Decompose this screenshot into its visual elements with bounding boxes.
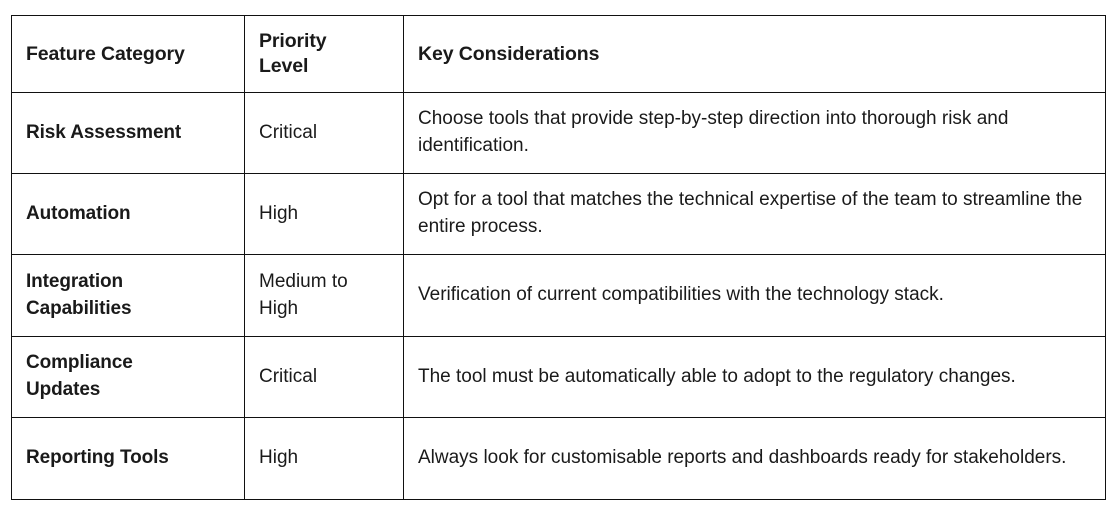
cell-key-considerations: Opt for a tool that matches the technica… — [404, 174, 1106, 255]
cell-priority-line1: Medium to — [259, 269, 389, 296]
table-row: Automation High Opt for a tool that matc… — [12, 174, 1106, 255]
cell-key-considerations: Always look for customisable reports and… — [404, 418, 1106, 500]
feature-table-container: Feature Category Priority Level Key Cons… — [11, 15, 1105, 500]
cell-priority-level: Critical — [245, 337, 404, 418]
table-header: Feature Category Priority Level Key Cons… — [12, 16, 1106, 93]
table-row: Compliance Updates Critical The tool mus… — [12, 337, 1106, 418]
cell-feature-category: Compliance Updates — [12, 337, 245, 418]
column-header-priority-line1: Priority — [259, 29, 389, 54]
cell-priority-level: Medium to High — [245, 255, 404, 337]
cell-priority-level: High — [245, 418, 404, 500]
table-row: Integration Capabilities Medium to High … — [12, 255, 1106, 337]
header-row: Feature Category Priority Level Key Cons… — [12, 16, 1106, 93]
cell-category-line1: Integration — [26, 269, 230, 296]
table-row: Reporting Tools High Always look for cus… — [12, 418, 1106, 500]
feature-comparison-table: Feature Category Priority Level Key Cons… — [11, 15, 1106, 500]
column-header-key-considerations: Key Considerations — [404, 16, 1106, 93]
cell-category-line2: Updates — [26, 377, 230, 404]
page-canvas: Feature Category Priority Level Key Cons… — [0, 0, 1120, 516]
cell-key-considerations: Choose tools that provide step-by-step d… — [404, 93, 1106, 174]
table-body: Risk Assessment Critical Choose tools th… — [12, 93, 1106, 500]
cell-key-considerations: The tool must be automatically able to a… — [404, 337, 1106, 418]
cell-feature-category: Automation — [12, 174, 245, 255]
column-header-priority-level: Priority Level — [245, 16, 404, 93]
cell-feature-category: Integration Capabilities — [12, 255, 245, 337]
column-header-priority-line2: Level — [259, 54, 389, 79]
cell-priority-level: Critical — [245, 93, 404, 174]
cell-priority-level: High — [245, 174, 404, 255]
cell-category-line1: Compliance — [26, 350, 230, 377]
cell-priority-line2: High — [259, 296, 389, 323]
column-header-feature-category: Feature Category — [12, 16, 245, 93]
cell-key-considerations: Verification of current compatibilities … — [404, 255, 1106, 337]
cell-feature-category: Reporting Tools — [12, 418, 245, 500]
cell-category-line2: Capabilities — [26, 296, 230, 323]
cell-feature-category: Risk Assessment — [12, 93, 245, 174]
table-row: Risk Assessment Critical Choose tools th… — [12, 93, 1106, 174]
